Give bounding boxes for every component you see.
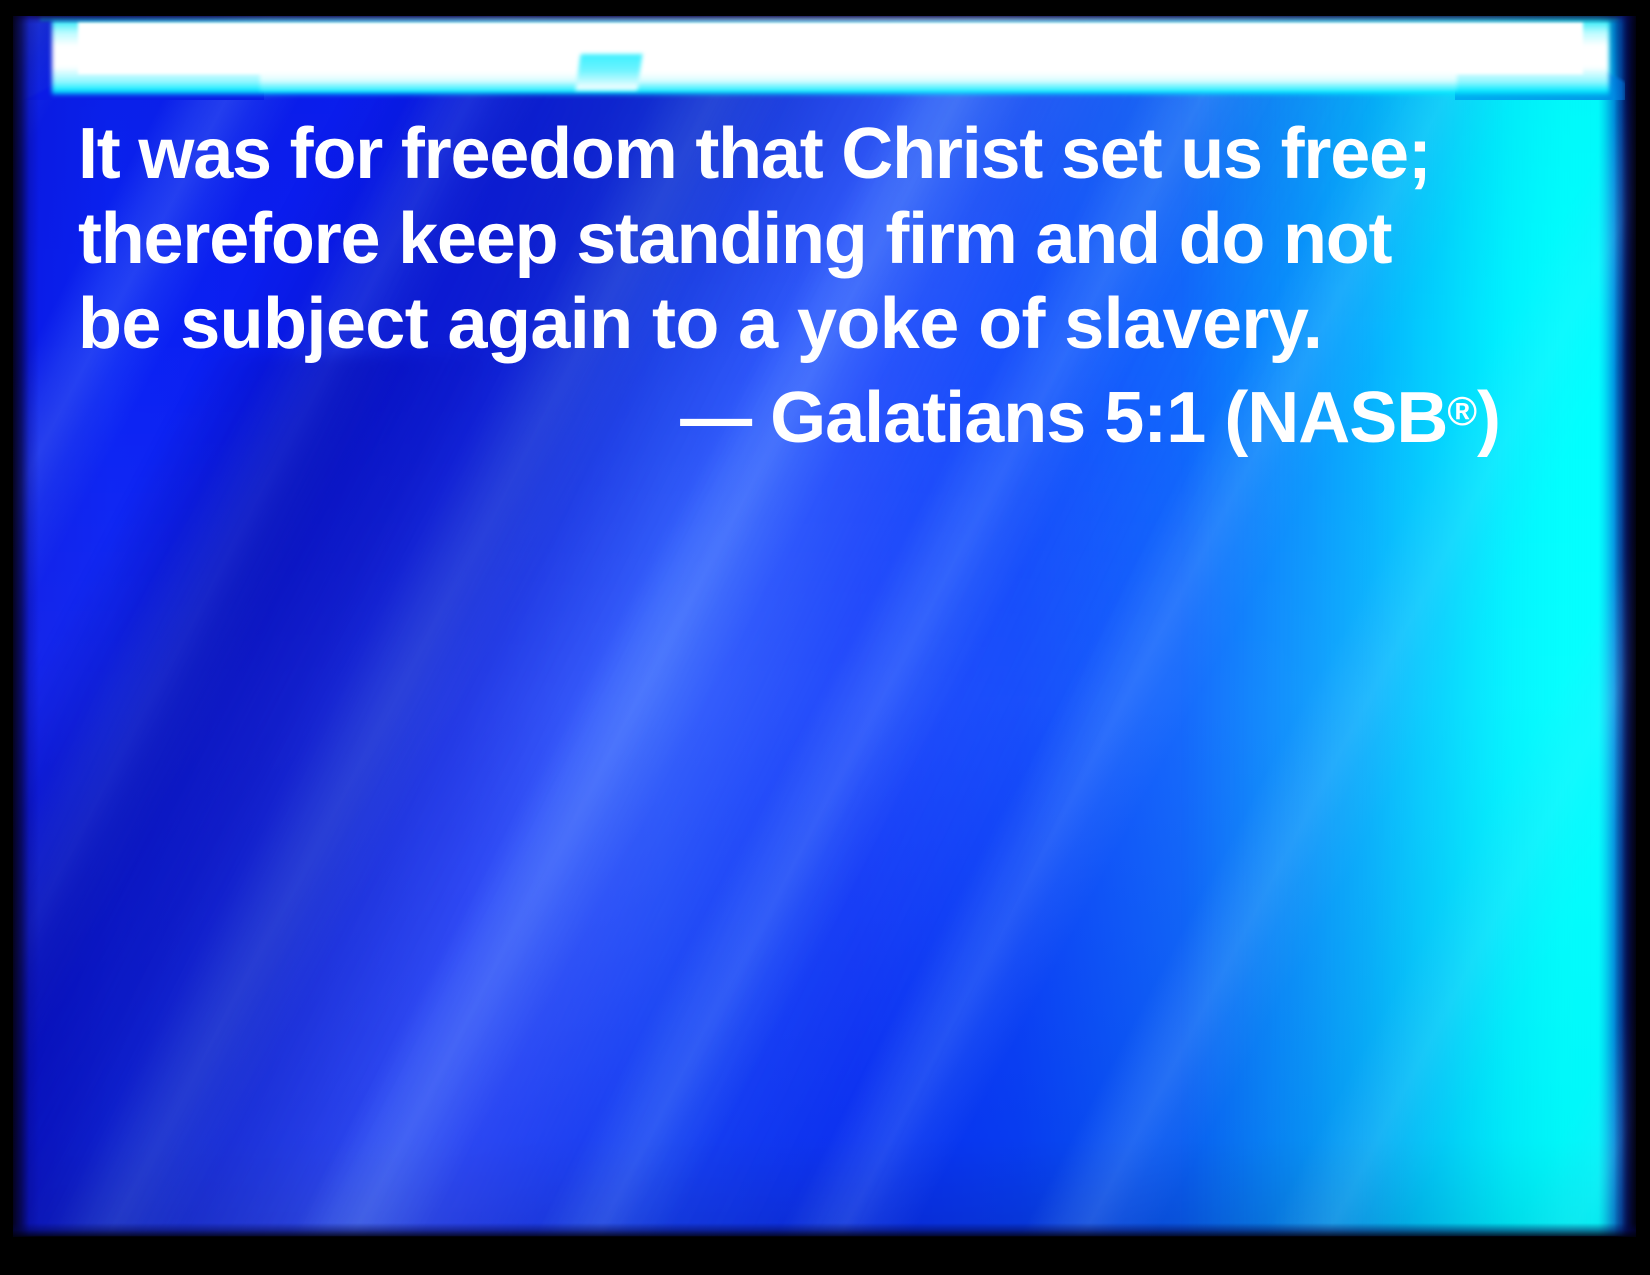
top-bar-white-lower (260, 58, 1457, 90)
attribution-suffix: ) (1477, 378, 1500, 458)
border-right (1636, 0, 1650, 1275)
verse-slide: It was for freedom that Christ set us fr… (0, 0, 1650, 1275)
border-left-soft (13, 16, 39, 1237)
attribution-prefix: — Galatians 5:1 (NASB (680, 378, 1447, 458)
background-dark-diagonal-band-secondary (12, 356, 500, 1236)
border-bottom (0, 1237, 1650, 1275)
verse-line-1: It was for freedom that Christ set us fr… (78, 112, 1508, 197)
border-bottom-soft (13, 1223, 1636, 1237)
verse-line-2: therefore keep standing firm and do not (78, 197, 1508, 282)
border-top (0, 0, 1650, 16)
border-left (0, 0, 13, 1275)
border-right-soft (1614, 16, 1636, 1237)
registered-trademark-icon: ® (1447, 388, 1477, 434)
verse-text-block: It was for freedom that Christ set us fr… (78, 112, 1508, 462)
verse-line-3: be subject again to a yoke of slavery. (78, 282, 1508, 367)
verse-attribution: — Galatians 5:1 (NASB®) (78, 367, 1508, 462)
top-glow-bar (12, 14, 1637, 100)
top-bar-cyan-notch (575, 54, 642, 90)
border-top-soft (13, 16, 1636, 24)
